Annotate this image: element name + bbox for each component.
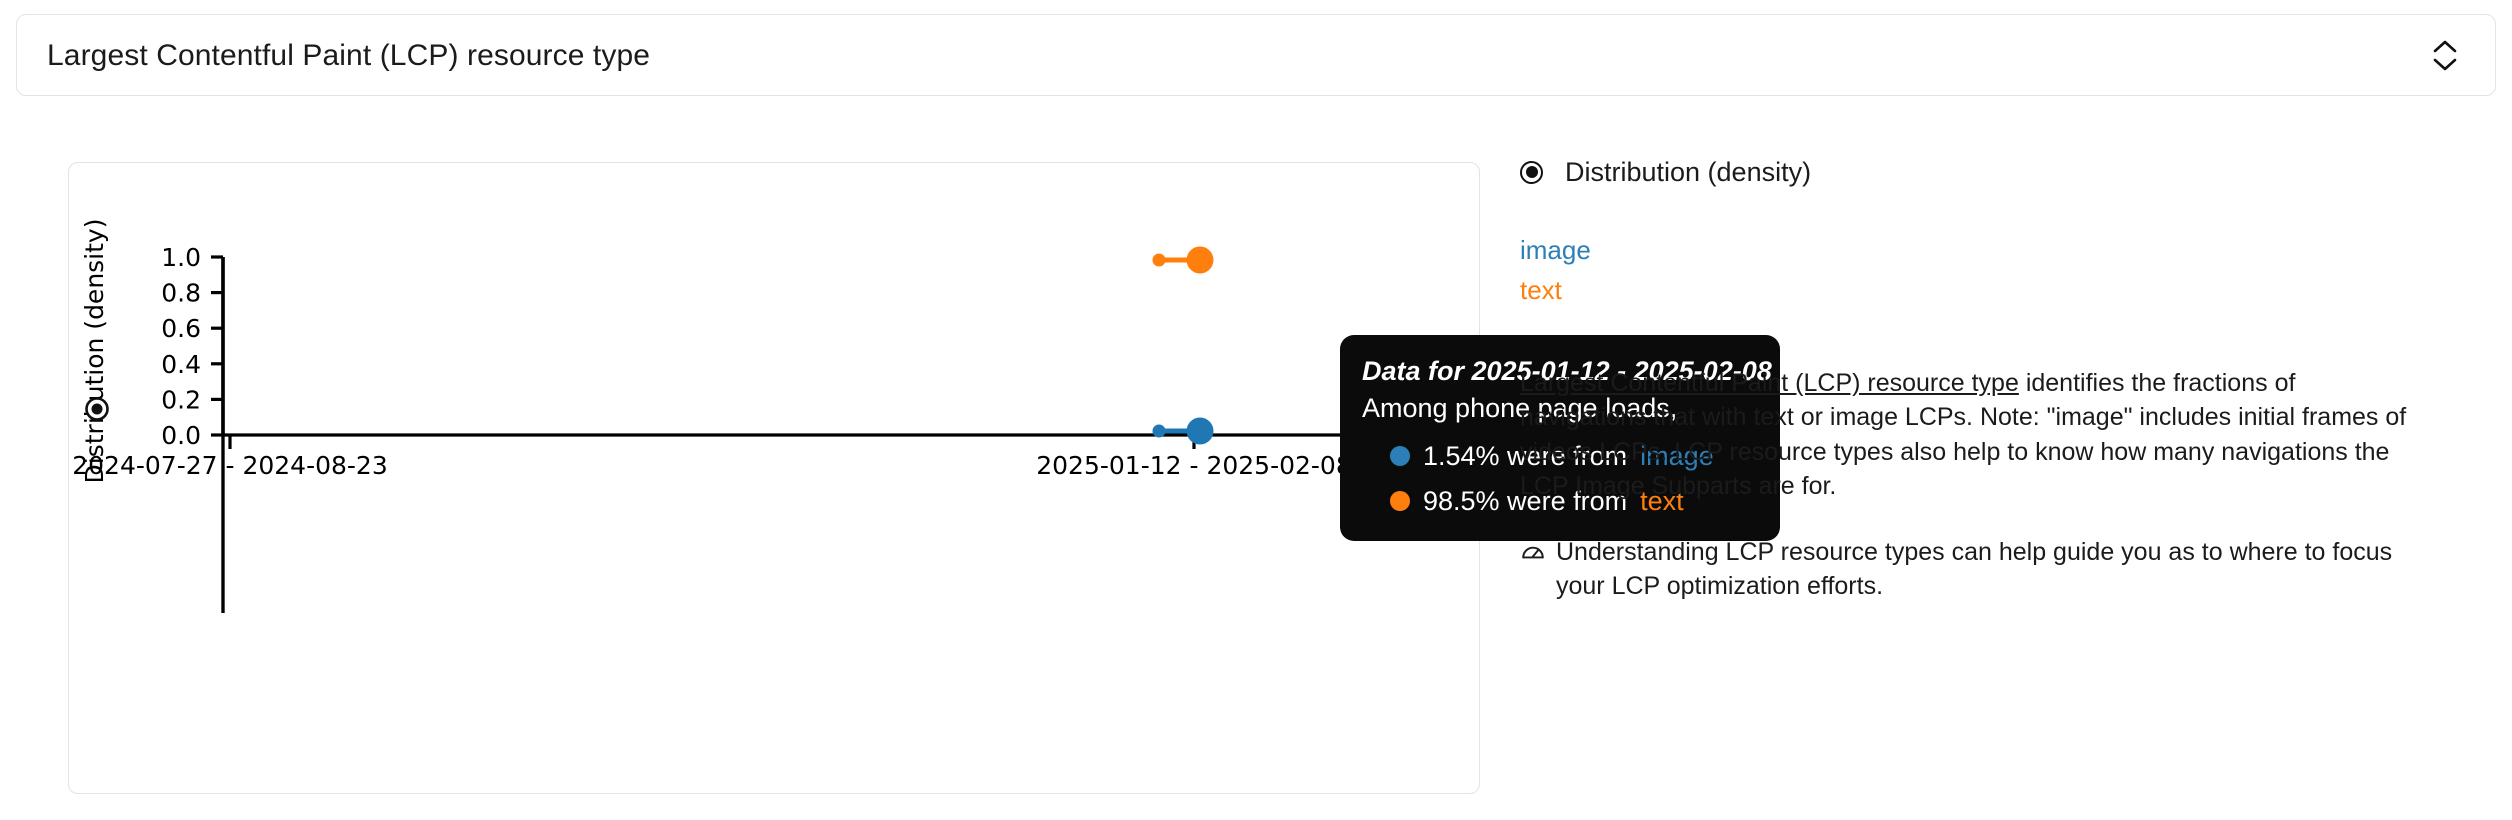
- y-tick-1: 1.0: [161, 243, 201, 272]
- legend-dot-text: [1390, 491, 1410, 511]
- y-tick-6: 0.0: [161, 421, 201, 450]
- y-axis-metric-radio[interactable]: [87, 399, 108, 420]
- legend-dot-image: [1390, 446, 1410, 466]
- chart-legend: image text: [1520, 231, 2440, 310]
- data-point-image-1[interactable]: [1153, 425, 1166, 438]
- x-tick-2: 2025-01-12 - 2025-02-08: [1036, 451, 1352, 480]
- data-point-text-2[interactable]: [1187, 247, 1214, 274]
- metric-selector-row[interactable]: Distribution (density): [1520, 155, 2440, 189]
- chevron-up-icon: [2433, 40, 2457, 53]
- x-tick-1: 2024-07-27 - 2024-08-23: [72, 451, 388, 480]
- series-image[interactable]: [1153, 418, 1214, 445]
- y-tick-3: 0.6: [161, 314, 201, 343]
- metric-tip-text: Understanding LCP resource types can hel…: [1556, 535, 2420, 604]
- data-point-text-1[interactable]: [1153, 254, 1166, 267]
- expand-collapse-button[interactable]: [2423, 27, 2467, 83]
- metric-description-link[interactable]: Largest Contentful Paint (LCP) resource …: [1520, 369, 2019, 397]
- chart-card: 1.0 0.8 0.6 0.4 0.2 0.0 2024-07-27 - 202…: [68, 162, 1480, 794]
- y-axis-label: Distribution (density): [80, 219, 109, 484]
- radio-distribution-density[interactable]: [1520, 161, 1543, 184]
- gauge-icon: [1520, 539, 1546, 604]
- y-tick-5: 0.2: [161, 385, 201, 414]
- panel-header[interactable]: Largest Contentful Paint (LCP) resource …: [16, 14, 2496, 96]
- y-tick-4: 0.4: [161, 350, 201, 379]
- radio-inner-dot: [1526, 166, 1538, 178]
- y-axis-tick-labels: 1.0 0.8 0.6 0.4 0.2 0.0: [161, 243, 201, 450]
- x-axis-ticks: [230, 435, 1194, 449]
- series-text[interactable]: [1153, 247, 1214, 274]
- chart-side-panel: Distribution (density) image text Larges…: [1520, 155, 2440, 604]
- metric-description: Largest Contentful Paint (LCP) resource …: [1520, 366, 2420, 503]
- lcp-resource-type-chart[interactable]: 1.0 0.8 0.6 0.4 0.2 0.0 2024-07-27 - 202…: [69, 163, 1480, 794]
- chevron-down-icon: [2433, 58, 2457, 71]
- x-axis-tick-labels: 2024-07-27 - 2024-08-23 2025-01-12 - 202…: [72, 451, 1352, 480]
- metric-selector-label: Distribution (density): [1565, 157, 1811, 188]
- y-axis-label-group[interactable]: Distribution (density): [80, 219, 109, 484]
- legend-item-text[interactable]: text: [1520, 271, 2440, 311]
- y-tick-2: 0.8: [161, 279, 201, 308]
- page-title: Largest Contentful Paint (LCP) resource …: [47, 39, 650, 72]
- metric-tip: Understanding LCP resource types can hel…: [1520, 535, 2420, 604]
- legend-item-image[interactable]: image: [1520, 231, 2440, 271]
- y-axis-ticks: [211, 257, 223, 435]
- data-point-image-2[interactable]: [1187, 418, 1214, 445]
